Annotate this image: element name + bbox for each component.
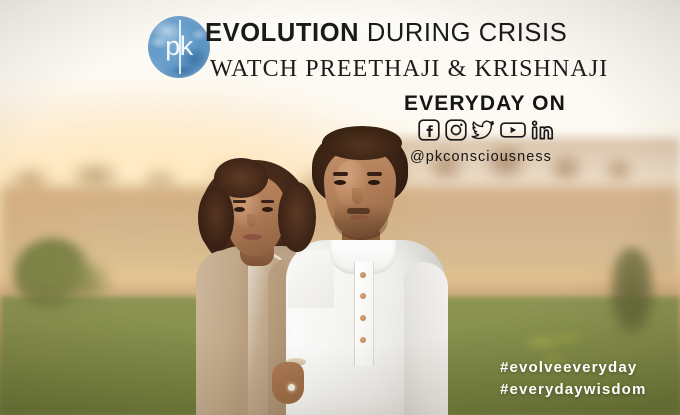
linkedin-icon[interactable]	[530, 118, 556, 142]
promo-banner: pk EVOLUTION DURING CRISIS WATCH PREETHA…	[0, 0, 680, 415]
subline: WATCH PREETHAJI & KRISHNAJI	[210, 56, 608, 83]
instagram-link[interactable]	[444, 118, 468, 142]
social-icon-row	[417, 118, 556, 142]
twitter-icon[interactable]	[471, 118, 496, 142]
hashtag-block: #evolveeveryday #everydaywisdom	[500, 357, 647, 401]
twitter-link[interactable]	[471, 118, 496, 142]
headline-light: DURING CRISIS	[359, 19, 567, 47]
headline: EVOLUTION DURING CRISIS	[205, 20, 567, 48]
logo-text: pk	[148, 33, 210, 60]
linkedin-link[interactable]	[530, 118, 556, 142]
facebook-icon[interactable]	[417, 118, 441, 142]
pk-logo[interactable]: pk	[148, 16, 210, 78]
facebook-link[interactable]	[417, 118, 441, 142]
headline-strong: EVOLUTION	[205, 19, 359, 47]
youtube-icon[interactable]	[499, 118, 527, 142]
instagram-icon[interactable]	[444, 118, 468, 142]
social-handle[interactable]: @pkconsciousness	[410, 149, 552, 165]
hashtag-item[interactable]: #everydaywisdom	[500, 379, 647, 401]
everyday-label: EVERYDAY ON	[404, 92, 566, 116]
hashtag-item[interactable]: #evolveeveryday	[500, 357, 647, 379]
youtube-link[interactable]	[499, 118, 527, 142]
